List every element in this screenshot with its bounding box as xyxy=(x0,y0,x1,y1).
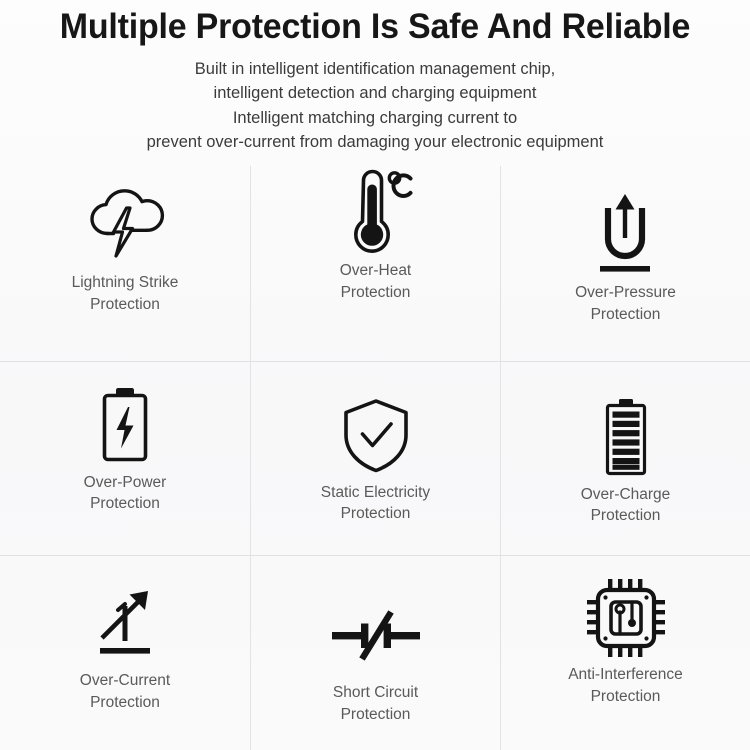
short-circuit-icon xyxy=(251,590,500,682)
feature-label: Over-Pressure Protection xyxy=(575,282,676,325)
feature-cell-anti-interference: Anti-Interference Protection xyxy=(500,555,750,750)
feature-label: Anti-Interference Protection xyxy=(568,664,683,707)
subtitle-line-4: prevent over-current from damaging your … xyxy=(10,130,740,154)
feature-label: Short Circuit Protection xyxy=(333,682,418,725)
feature-label-line-2: Protection xyxy=(581,505,671,526)
cloud-lightning-icon xyxy=(0,180,250,272)
feature-label-line-1: Over-Current xyxy=(80,672,170,689)
feature-label: Over-Heat Protection xyxy=(340,260,412,303)
shield-check-icon xyxy=(251,390,500,482)
feature-label: Over-Current Protection xyxy=(80,670,170,713)
feature-label-line-1: Over-Heat xyxy=(340,262,412,279)
up-arrow-pressure-icon xyxy=(501,190,750,282)
subtitle-line-2: intelligent detection and charging equip… xyxy=(10,81,740,105)
feature-cell-over-charge: Over-Charge Protection xyxy=(500,361,750,556)
feature-cell-lightning-strike: Lightning Strike Protection xyxy=(0,166,250,361)
feature-label-line-1: Lightning Strike xyxy=(72,274,179,291)
microchip-icon xyxy=(501,572,750,664)
feature-label-line-2: Protection xyxy=(72,294,179,315)
feature-label-line-1: Static Electricity xyxy=(321,484,430,501)
feature-label-line-1: Over-Power xyxy=(84,474,167,491)
feature-label-line-2: Protection xyxy=(80,692,170,713)
feature-cell-over-heat: Over-Heat Protection xyxy=(250,166,500,361)
thermometer-celsius-icon xyxy=(251,168,500,260)
feature-label-line-2: Protection xyxy=(575,304,676,325)
battery-bolt-icon xyxy=(0,380,250,472)
feature-label-line-2: Protection xyxy=(568,686,683,707)
rising-arrow-current-icon xyxy=(0,578,250,670)
feature-label-line-2: Protection xyxy=(340,282,412,303)
header: Multiple Protection Is Safe And Reliable… xyxy=(0,0,750,154)
battery-full-icon xyxy=(501,392,750,484)
feature-label: Over-Charge Protection xyxy=(581,484,671,527)
feature-label: Lightning Strike Protection xyxy=(72,272,179,315)
subtitle-line-1: Built in intelligent identification mana… xyxy=(10,57,740,81)
feature-grid: Lightning Strike Protection xyxy=(0,166,750,750)
feature-cell-over-power: Over-Power Protection xyxy=(0,361,250,556)
feature-cell-over-current: Over-Current Protection xyxy=(0,555,250,750)
feature-label-line-1: Anti-Interference xyxy=(568,666,683,683)
feature-cell-over-pressure: Over-Pressure Protection xyxy=(500,166,750,361)
page-subtitle: Built in intelligent identification mana… xyxy=(10,57,740,154)
subtitle-line-3: Intelligent matching charging current to xyxy=(10,106,740,130)
feature-label-line-1: Over-Pressure xyxy=(575,284,676,301)
feature-label-line-1: Over-Charge xyxy=(581,486,671,503)
feature-label-line-2: Protection xyxy=(321,503,430,524)
feature-label-line-1: Short Circuit xyxy=(333,684,418,701)
feature-cell-short-circuit: Short Circuit Protection xyxy=(250,555,500,750)
feature-label: Static Electricity Protection xyxy=(321,482,430,525)
feature-label: Over-Power Protection xyxy=(84,472,167,515)
page-title: Multiple Protection Is Safe And Reliable xyxy=(21,7,729,46)
feature-label-line-2: Protection xyxy=(84,493,167,514)
feature-label-line-2: Protection xyxy=(333,704,418,725)
protection-features-page: Multiple Protection Is Safe And Reliable… xyxy=(0,0,750,750)
feature-cell-static-electricity: Static Electricity Protection xyxy=(250,361,500,556)
